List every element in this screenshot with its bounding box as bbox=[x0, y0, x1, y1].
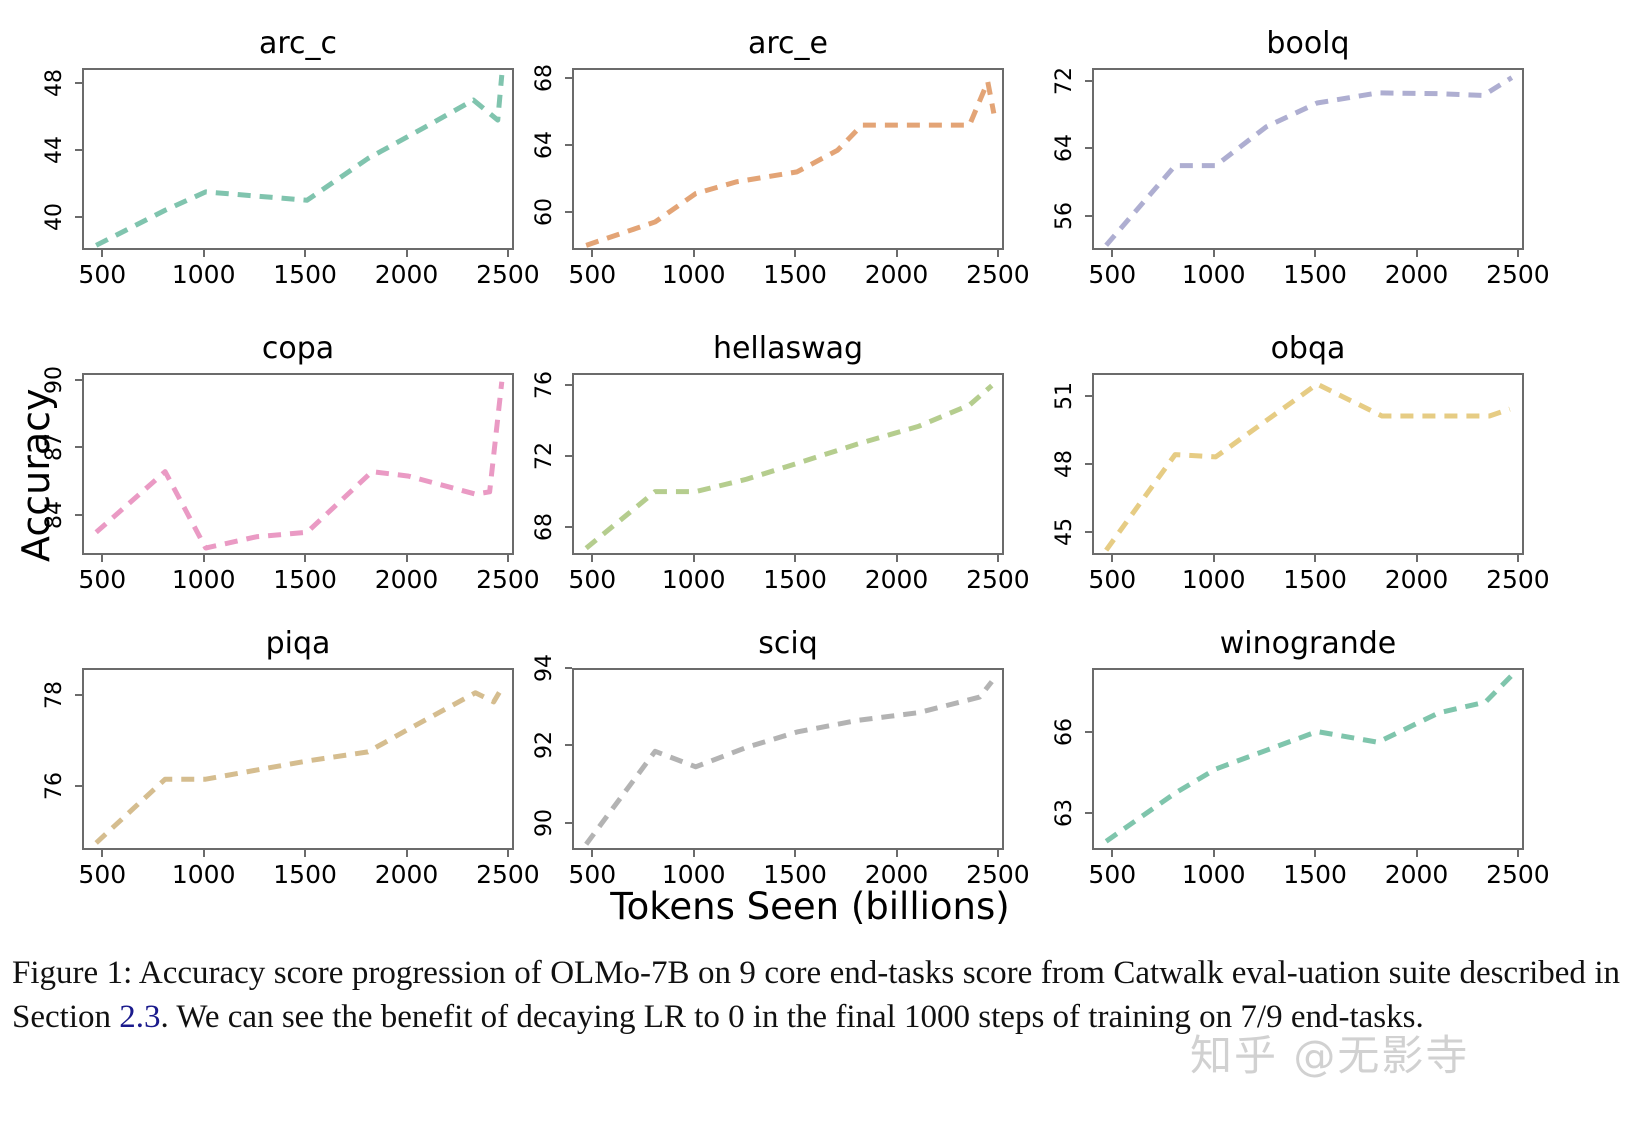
subplot-arc_c: arc_c4044485001000150020002500 bbox=[22, 24, 544, 306]
y-tick-label: 72 bbox=[532, 430, 558, 482]
x-tick-label: 1500 bbox=[260, 565, 350, 594]
x-tick-label: 1000 bbox=[649, 260, 739, 289]
subplot-title-boolq: boolq bbox=[1092, 26, 1524, 61]
x-tick-label: 1500 bbox=[750, 260, 840, 289]
x-tick-label: 2000 bbox=[852, 565, 942, 594]
x-tick-label: 1000 bbox=[1169, 260, 1259, 289]
y-tick-mark bbox=[565, 822, 572, 824]
y-tick-label: 51 bbox=[1052, 370, 1078, 422]
x-tick-mark bbox=[304, 850, 306, 857]
y-tick-mark bbox=[1085, 80, 1092, 82]
y-tick-mark bbox=[75, 785, 82, 787]
x-tick-label: 1500 bbox=[750, 860, 840, 889]
x-tick-label: 1000 bbox=[649, 565, 739, 594]
x-tick-mark bbox=[1314, 250, 1316, 257]
x-tick-mark bbox=[1416, 850, 1418, 857]
y-tick-label: 68 bbox=[532, 501, 558, 553]
y-tick-mark bbox=[1085, 147, 1092, 149]
figure-panel-grid: Accuracy Tokens Seen (billions) arc_c404… bbox=[0, 0, 1632, 950]
plot-area-winogrande bbox=[1092, 668, 1524, 850]
subplot-title-hellaswag: hellaswag bbox=[572, 331, 1004, 366]
series-svg-sciq bbox=[574, 670, 1006, 852]
x-tick-label: 2000 bbox=[1372, 860, 1462, 889]
x-tick-mark bbox=[507, 250, 509, 257]
y-tick-label: 84 bbox=[42, 489, 68, 541]
x-tick-mark bbox=[794, 850, 796, 857]
x-tick-label: 1000 bbox=[649, 860, 739, 889]
x-tick-label: 2500 bbox=[1473, 860, 1563, 889]
y-tick-label: 94 bbox=[532, 642, 558, 694]
subplot-piqa: piqa76785001000150020002500 bbox=[22, 624, 544, 906]
series-svg-winogrande bbox=[1094, 670, 1526, 852]
subplot-title-winogrande: winogrande bbox=[1092, 626, 1524, 661]
series-svg-boolq bbox=[1094, 70, 1526, 252]
x-tick-mark bbox=[896, 850, 898, 857]
x-tick-mark bbox=[101, 555, 103, 562]
y-tick-mark bbox=[1085, 812, 1092, 814]
series-svg-obqa bbox=[1094, 375, 1526, 557]
y-tick-label: 63 bbox=[1052, 787, 1078, 839]
x-tick-mark bbox=[693, 555, 695, 562]
x-tick-mark bbox=[1517, 850, 1519, 857]
x-tick-mark bbox=[1314, 555, 1316, 562]
x-tick-mark bbox=[896, 555, 898, 562]
subplot-title-obqa: obqa bbox=[1092, 331, 1524, 366]
y-tick-label: 60 bbox=[532, 186, 558, 238]
y-tick-mark bbox=[565, 211, 572, 213]
y-tick-label: 90 bbox=[42, 354, 68, 406]
x-tick-label: 1000 bbox=[1169, 860, 1259, 889]
figure-caption: Figure 1: Accuracy score progression of … bbox=[12, 952, 1620, 1040]
y-tick-mark bbox=[565, 667, 572, 669]
y-tick-label: 56 bbox=[1052, 190, 1078, 242]
series-svg-arc_e bbox=[574, 70, 1006, 252]
x-tick-label: 1000 bbox=[1169, 565, 1259, 594]
y-tick-label: 76 bbox=[532, 359, 558, 411]
x-tick-mark bbox=[101, 250, 103, 257]
x-tick-label: 1000 bbox=[159, 860, 249, 889]
x-tick-mark bbox=[1517, 555, 1519, 562]
series-svg-hellaswag bbox=[574, 375, 1006, 557]
series-svg-piqa bbox=[84, 670, 516, 852]
subplot-winogrande: winogrande63665001000150020002500 bbox=[1032, 624, 1554, 906]
x-tick-label: 500 bbox=[1067, 860, 1157, 889]
y-tick-mark bbox=[565, 384, 572, 386]
y-tick-label: 45 bbox=[1052, 506, 1078, 558]
y-tick-mark bbox=[75, 82, 82, 84]
plot-area-boolq bbox=[1092, 68, 1524, 250]
y-tick-label: 72 bbox=[1052, 55, 1078, 107]
series-line-winogrande bbox=[1106, 675, 1512, 841]
series-line-hellaswag bbox=[586, 386, 992, 549]
x-tick-mark bbox=[693, 250, 695, 257]
subplot-title-arc_c: arc_c bbox=[82, 26, 514, 61]
x-tick-label: 2000 bbox=[362, 565, 452, 594]
y-tick-mark bbox=[565, 526, 572, 528]
y-tick-label: 44 bbox=[42, 124, 68, 176]
x-tick-mark bbox=[1213, 250, 1215, 257]
y-tick-mark bbox=[75, 694, 82, 696]
y-tick-mark bbox=[1085, 531, 1092, 533]
x-tick-label: 2000 bbox=[1372, 260, 1462, 289]
x-tick-label: 1000 bbox=[159, 565, 249, 594]
y-tick-label: 48 bbox=[1052, 438, 1078, 490]
x-tick-label: 2500 bbox=[1473, 260, 1563, 289]
x-tick-label: 1500 bbox=[260, 860, 350, 889]
y-tick-mark bbox=[565, 144, 572, 146]
subplot-title-arc_e: arc_e bbox=[572, 26, 1004, 61]
x-tick-mark bbox=[1111, 250, 1113, 257]
x-tick-mark bbox=[997, 250, 999, 257]
caption-section-reference[interactable]: 2.3 bbox=[119, 999, 160, 1035]
x-tick-label: 2500 bbox=[953, 260, 1043, 289]
y-tick-label: 87 bbox=[42, 421, 68, 473]
y-tick-label: 64 bbox=[1052, 122, 1078, 174]
plot-area-obqa bbox=[1092, 373, 1524, 555]
x-tick-mark bbox=[591, 850, 593, 857]
x-tick-label: 2000 bbox=[1372, 565, 1462, 594]
subplot-arc_e: arc_e6064685001000150020002500 bbox=[512, 24, 1034, 306]
x-tick-mark bbox=[406, 555, 408, 562]
subplot-boolq: boolq5664725001000150020002500 bbox=[1032, 24, 1554, 306]
x-tick-label: 2500 bbox=[953, 860, 1043, 889]
x-tick-mark bbox=[997, 850, 999, 857]
x-tick-mark bbox=[406, 250, 408, 257]
x-tick-label: 500 bbox=[57, 565, 147, 594]
subplot-hellaswag: hellaswag6872765001000150020002500 bbox=[512, 329, 1034, 611]
y-tick-mark bbox=[1085, 463, 1092, 465]
y-tick-mark bbox=[565, 744, 572, 746]
x-tick-mark bbox=[693, 850, 695, 857]
x-tick-label: 500 bbox=[1067, 565, 1157, 594]
subplot-title-sciq: sciq bbox=[572, 626, 1004, 661]
x-tick-label: 1500 bbox=[1270, 260, 1360, 289]
x-tick-mark bbox=[1416, 250, 1418, 257]
x-tick-mark bbox=[794, 555, 796, 562]
series-line-piqa bbox=[96, 688, 502, 843]
x-tick-label: 2000 bbox=[362, 860, 452, 889]
y-tick-label: 40 bbox=[42, 191, 68, 243]
x-tick-mark bbox=[1213, 850, 1215, 857]
x-tick-label: 2500 bbox=[953, 565, 1043, 594]
x-tick-mark bbox=[896, 250, 898, 257]
y-tick-label: 64 bbox=[532, 119, 558, 171]
x-tick-mark bbox=[203, 555, 205, 562]
subplot-title-piqa: piqa bbox=[82, 626, 514, 661]
plot-area-hellaswag bbox=[572, 373, 1004, 555]
y-tick-label: 92 bbox=[532, 719, 558, 771]
x-tick-mark bbox=[507, 850, 509, 857]
subplot-title-copa: copa bbox=[82, 331, 514, 366]
y-tick-label: 48 bbox=[42, 57, 68, 109]
x-tick-label: 1500 bbox=[1270, 565, 1360, 594]
series-svg-copa bbox=[84, 375, 516, 557]
subplot-copa: copa8487905001000150020002500 bbox=[22, 329, 544, 611]
x-tick-label: 1500 bbox=[750, 565, 840, 594]
x-tick-label: 500 bbox=[57, 860, 147, 889]
series-line-sciq bbox=[586, 682, 992, 845]
x-tick-label: 500 bbox=[57, 260, 147, 289]
x-tick-label: 2000 bbox=[362, 260, 452, 289]
x-tick-mark bbox=[1111, 850, 1113, 857]
y-tick-mark bbox=[75, 149, 82, 151]
plot-area-copa bbox=[82, 373, 514, 555]
x-tick-mark bbox=[997, 555, 999, 562]
x-tick-mark bbox=[203, 850, 205, 857]
x-tick-mark bbox=[507, 555, 509, 562]
x-tick-label: 2500 bbox=[1473, 565, 1563, 594]
y-tick-mark bbox=[75, 379, 82, 381]
x-tick-mark bbox=[794, 250, 796, 257]
y-tick-label: 68 bbox=[532, 52, 558, 104]
x-tick-mark bbox=[1517, 250, 1519, 257]
x-tick-mark bbox=[591, 250, 593, 257]
series-line-obqa bbox=[1106, 384, 1510, 550]
series-line-arc_e bbox=[586, 82, 994, 246]
y-tick-mark bbox=[565, 455, 572, 457]
series-line-boolq bbox=[1106, 78, 1512, 246]
x-tick-mark bbox=[304, 555, 306, 562]
x-tick-mark bbox=[1314, 850, 1316, 857]
y-tick-label: 90 bbox=[532, 797, 558, 849]
caption-part-2: . We can see the benefit of decaying LR … bbox=[160, 999, 1423, 1035]
x-tick-mark bbox=[406, 850, 408, 857]
y-tick-mark bbox=[1085, 731, 1092, 733]
x-tick-mark bbox=[591, 555, 593, 562]
y-tick-mark bbox=[1085, 395, 1092, 397]
series-line-copa bbox=[96, 382, 502, 548]
series-svg-arc_c bbox=[84, 70, 516, 252]
x-tick-label: 2000 bbox=[852, 860, 942, 889]
plot-area-arc_e bbox=[572, 68, 1004, 250]
x-tick-mark bbox=[101, 850, 103, 857]
y-tick-label: 76 bbox=[42, 760, 68, 812]
y-tick-mark bbox=[75, 216, 82, 218]
x-tick-label: 500 bbox=[547, 860, 637, 889]
x-tick-label: 1500 bbox=[260, 260, 350, 289]
x-tick-label: 500 bbox=[1067, 260, 1157, 289]
x-tick-label: 500 bbox=[547, 565, 637, 594]
series-line-arc_c bbox=[96, 75, 502, 245]
y-tick-label: 78 bbox=[42, 669, 68, 721]
x-tick-mark bbox=[203, 250, 205, 257]
plot-area-arc_c bbox=[82, 68, 514, 250]
x-tick-label: 2000 bbox=[852, 260, 942, 289]
x-tick-mark bbox=[1111, 555, 1113, 562]
y-tick-mark bbox=[1085, 215, 1092, 217]
y-tick-mark bbox=[565, 77, 572, 79]
x-tick-label: 500 bbox=[547, 260, 637, 289]
y-tick-mark bbox=[75, 514, 82, 516]
x-tick-label: 1000 bbox=[159, 260, 249, 289]
x-tick-label: 1500 bbox=[1270, 860, 1360, 889]
x-tick-mark bbox=[1416, 555, 1418, 562]
plot-area-sciq bbox=[572, 668, 1004, 850]
subplot-sciq: sciq9092945001000150020002500 bbox=[512, 624, 1034, 906]
x-tick-mark bbox=[304, 250, 306, 257]
plot-area-piqa bbox=[82, 668, 514, 850]
y-tick-mark bbox=[75, 446, 82, 448]
subplot-obqa: obqa4548515001000150020002500 bbox=[1032, 329, 1554, 611]
y-tick-label: 66 bbox=[1052, 706, 1078, 758]
x-tick-mark bbox=[1213, 555, 1215, 562]
